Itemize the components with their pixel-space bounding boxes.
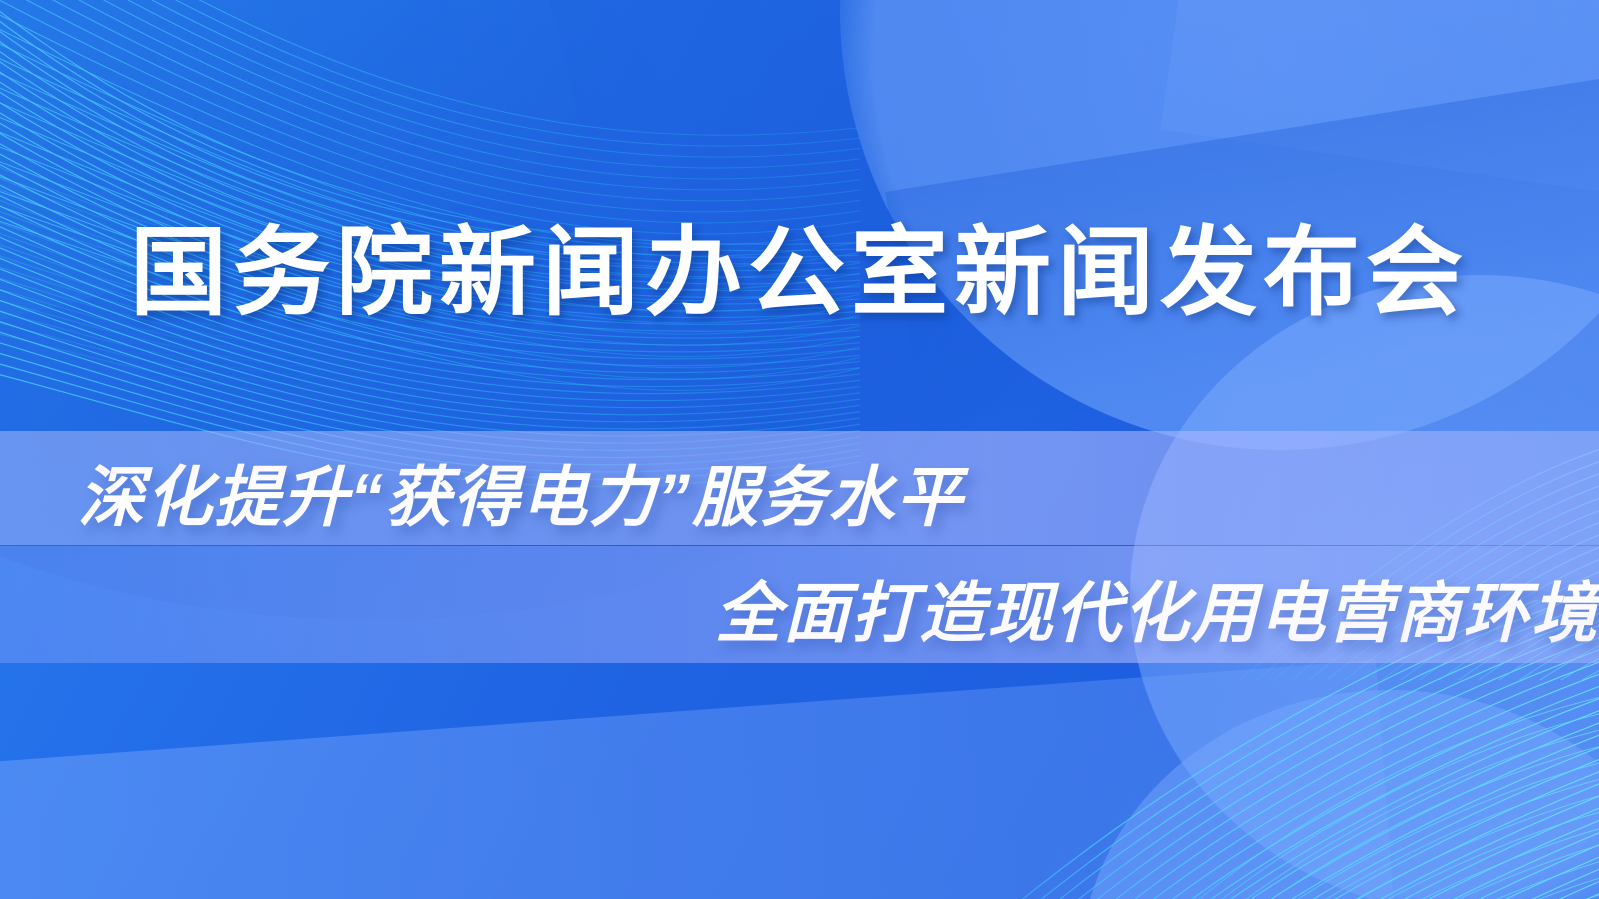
press-conference-poster: 国务院新闻办公室新闻发布会 深化提升“获得电力”服务水平 全面打造现代化用电营商… — [0, 0, 1599, 899]
subtitle-line-1: 深化提升“获得电力”服务水平 — [0, 444, 1599, 540]
title-block: 国务院新闻办公室新闻发布会 — [0, 222, 1599, 324]
subtitle-line-2: 全面打造现代化用电营商环境 — [0, 560, 1599, 656]
page-title: 国务院新闻办公室新闻发布会 — [130, 222, 1469, 324]
